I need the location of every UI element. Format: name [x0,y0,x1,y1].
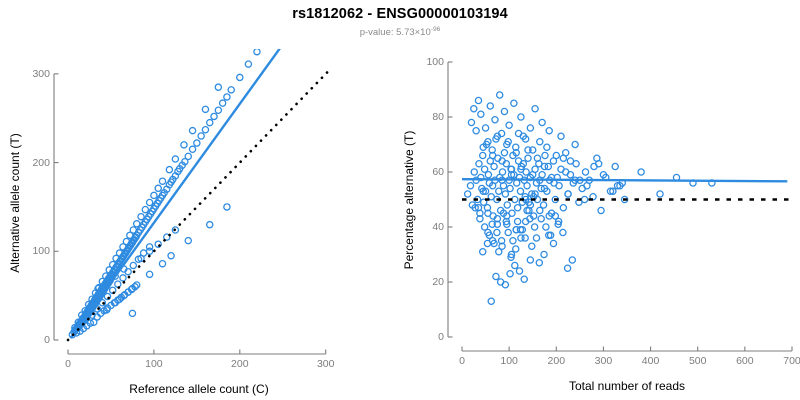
scatter-point [194,140,200,146]
scatter-point [202,127,208,133]
plot-data-layer [462,40,792,304]
scatter-point [537,207,543,213]
scatter-point [493,273,499,279]
scatter-point [598,207,604,213]
scatter-point [478,111,484,117]
scatter-point [515,130,521,136]
scatter-point [467,183,473,189]
scatter-point [507,271,513,277]
x-tick-label: 400 [642,355,660,367]
scatter-point [159,178,165,184]
scatter-point [155,185,161,191]
pvalue-subtitle: p-value: 5.73×10-96 [0,24,800,39]
scatter-point [515,205,521,211]
scatter-point [543,224,549,230]
scatter-point [657,191,663,197]
scatter-point-group [69,40,326,338]
scatter-point [130,262,136,268]
scatter-point [130,227,136,233]
scatter-point [511,100,517,106]
scatter-point [473,128,479,134]
scatter-point [560,155,566,161]
figure-container: rs1812062 - ENSG00000103194 p-value: 5.7… [0,0,800,400]
scatter-point [215,84,221,90]
scatter-point [538,216,544,222]
scatter-point [517,188,523,194]
scatter-point [224,94,230,100]
right-x-axis-title: Total number of reads [569,379,685,393]
x-tick-label: 600 [736,355,754,367]
scatter-point [544,144,550,150]
scatter-point [168,253,174,259]
scatter-point [584,183,590,189]
scatter-point [488,298,494,304]
scatter-point [779,40,785,43]
scatter-point [529,243,535,249]
scatter-point [499,169,505,175]
scatter-point [521,276,527,282]
scatter-point [512,196,518,202]
x-tick-label: 200 [231,358,249,370]
y-tick-label: 300 [16,68,50,80]
scatter-point [527,125,533,131]
scatter-point [524,183,530,189]
scatter-point [189,146,195,152]
scatter-point [207,222,213,228]
scatter-point [129,310,135,316]
scatter-point [565,265,571,271]
scatter-point [507,185,513,191]
scatter-point [539,172,545,178]
scatter-point [515,218,521,224]
scatter-point [569,257,575,263]
y-tick-label: 80 [410,111,444,123]
scatter-point [172,156,178,162]
y-tick-label: 100 [410,56,444,68]
y-tick-label: 0 [410,331,444,343]
scatter-point [502,191,508,197]
scatter-point [560,229,566,235]
scatter-point [522,235,528,241]
x-tick-label: 200 [548,355,566,367]
scatter-point [480,249,486,255]
scatter-point [510,238,516,244]
scatter-point [539,119,545,125]
scatter-point [475,97,481,103]
scatter-point-group [465,40,786,304]
scatter-point [533,235,539,241]
scatter-point [228,87,234,93]
x-tick-label: 300 [595,355,613,367]
scatter-point [496,188,502,194]
scatter-point [142,207,148,213]
figure-title-block: rs1812062 - ENSG00000103194 p-value: 5.7… [0,6,800,39]
left-y-axis-title: Alternative allele count (T) [8,133,22,272]
scatter-point [224,204,230,210]
scatter-point [262,40,268,41]
right-plot-canvas [400,40,800,400]
scatter-point [525,155,531,161]
scatter-point [638,169,644,175]
scatter-point [484,240,490,246]
scatter-point [485,172,491,178]
scatter-point [506,122,512,128]
x-tick-label: 500 [689,355,707,367]
panel-left-scatter: 01002003000100200300 Reference allele co… [0,40,400,400]
pvalue-exponent: -96 [431,26,441,33]
right-y-axis-title: Percentage alternative (T) [402,130,416,269]
scatter-point [166,167,172,173]
scatter-point [198,133,204,139]
scatter-point [494,229,500,235]
pvalue-text: p-value: 5.73×10 [360,27,431,38]
scatter-point [542,152,548,158]
scatter-point [254,49,260,55]
scatter-point [476,161,482,167]
left-x-axis-title: Reference allele count (C) [129,382,268,396]
scatter-point [482,125,488,131]
scatter-point [567,158,573,164]
scatter-point [512,262,518,268]
x-tick-label: 100 [500,355,518,367]
scatter-point [536,260,542,266]
scatter-point [189,128,195,134]
scatter-point [147,248,153,254]
scatter-point [582,169,588,175]
scatter-point [468,119,474,125]
scatter-point [185,238,191,244]
x-tick-label: 700 [783,355,800,367]
scatter-point [215,107,221,113]
scatter-point [541,163,547,169]
scatter-point [742,40,748,43]
scatter-point [496,249,502,255]
scatter-point [147,199,153,205]
scatter-point [572,141,578,147]
scatter-point [480,152,486,158]
scatter-point [465,191,471,197]
panel-right-scatter: 0100200300400500600700020406080100 Total… [400,40,800,400]
scatter-point [482,224,488,230]
scatter-point [504,202,510,208]
scatter-point [527,257,533,263]
scatter-point [546,128,552,134]
x-tick-label: 0 [65,358,71,370]
scatter-point [532,106,538,112]
x-tick-label: 100 [145,358,163,370]
scatter-point [501,108,507,114]
scatter-point [513,227,519,233]
scatter-point [513,246,519,252]
left-plot-canvas [0,40,400,400]
scatter-point [550,240,556,246]
scatter-point [501,150,507,156]
scatter-point [181,142,187,148]
scatter-point [553,152,559,158]
scatter-point [516,268,522,274]
scatter-point [159,261,165,267]
page-title: rs1812062 - ENSG00000103194 [0,6,800,23]
scatter-point [558,133,564,139]
scatter-point [537,139,543,145]
scatter-point [518,114,524,120]
scatter-point [532,224,538,230]
scatter-point [185,153,191,159]
scatter-point [120,275,126,281]
regression-fit-line [462,179,787,181]
scatter-point [211,113,217,119]
scatter-point [220,100,226,106]
scatter-point [541,251,547,257]
scatter-point [245,61,251,67]
plot-data-layer [68,40,330,340]
scatter-point [471,106,477,112]
scatter-point [237,74,243,80]
scatter-point [134,221,140,227]
scatter-point [491,163,497,169]
scatter-point [505,229,511,235]
scatter-point [138,214,144,220]
scatter-point [565,191,571,197]
x-tick-label: 0 [459,355,465,367]
scatter-point [487,103,493,109]
x-tick-label: 300 [317,358,335,370]
scatter-point [497,92,503,98]
scatter-point [471,169,477,175]
y-tick-label: 0 [16,334,50,346]
scatter-point [612,163,618,169]
scatter-point [202,106,208,112]
y-tick-label: 20 [410,276,444,288]
scatter-point [581,196,587,202]
identity-reference-line [68,69,330,340]
scatter-point [492,117,498,123]
scatter-point [560,205,566,211]
scatter-point [207,120,213,126]
scatter-point [151,192,157,198]
scatter-point [147,271,153,277]
scatter-point [115,281,121,287]
